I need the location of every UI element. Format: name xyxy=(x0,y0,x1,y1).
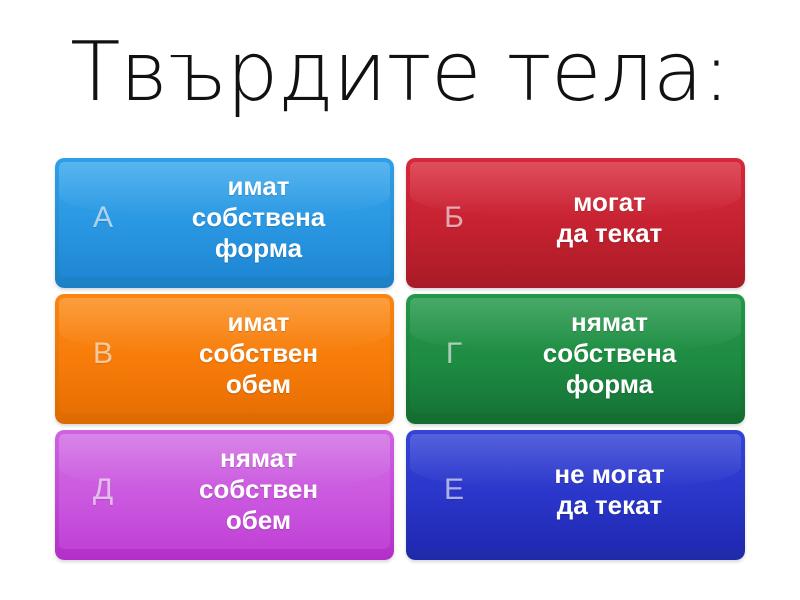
card-face xyxy=(59,162,390,277)
answer-card-a[interactable]: А имат собствена форма xyxy=(55,158,394,288)
card-face xyxy=(410,434,741,549)
card-face xyxy=(59,434,390,549)
quiz-screen: Твърдите тела: А имат собствена форма Б … xyxy=(0,0,800,600)
answer-card-e[interactable]: Е не могат да текат xyxy=(406,430,745,560)
answer-card-v[interactable]: В имат собствен обем xyxy=(55,294,394,424)
answer-options-grid: А имат собствена форма Б могат да текат … xyxy=(55,158,745,570)
answer-card-d[interactable]: Д нямат собствен обем xyxy=(55,430,394,560)
answer-card-g[interactable]: Г нямат собствена форма xyxy=(406,294,745,424)
answer-card-b[interactable]: Б могат да текат xyxy=(406,158,745,288)
page-title: Твърдите тела: xyxy=(0,8,800,138)
card-face xyxy=(410,298,741,413)
card-face xyxy=(59,298,390,413)
card-face xyxy=(410,162,741,277)
